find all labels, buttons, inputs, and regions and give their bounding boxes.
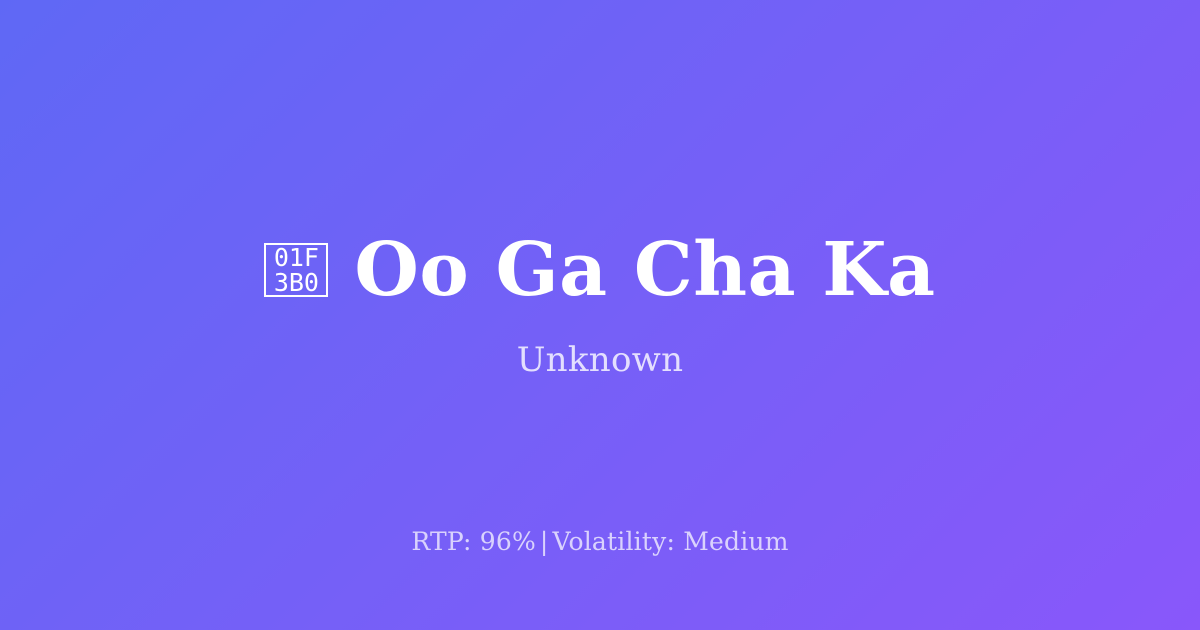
- game-preview-card: 01F 3B0 Oo Ga Cha Ka Unknown RTP: 96%|Vo…: [0, 0, 1200, 630]
- meta-separator: |: [536, 527, 553, 556]
- volatility-value: Volatility: Medium: [553, 527, 789, 556]
- card-center-stack: 01F 3B0 Oo Ga Cha Ka Unknown: [0, 228, 1200, 380]
- codepoint-bottom: 3B0: [274, 270, 319, 295]
- game-title: Oo Ga Cha Ka: [354, 228, 935, 312]
- rtp-value: RTP: 96%: [411, 527, 536, 556]
- title-row: 01F 3B0 Oo Ga Cha Ka: [264, 228, 935, 312]
- codepoint-top: 01F: [274, 245, 319, 270]
- game-meta-line: RTP: 96%|Volatility: Medium: [0, 527, 1200, 557]
- slot-machine-icon: 01F 3B0: [264, 243, 328, 297]
- game-provider: Unknown: [517, 340, 684, 380]
